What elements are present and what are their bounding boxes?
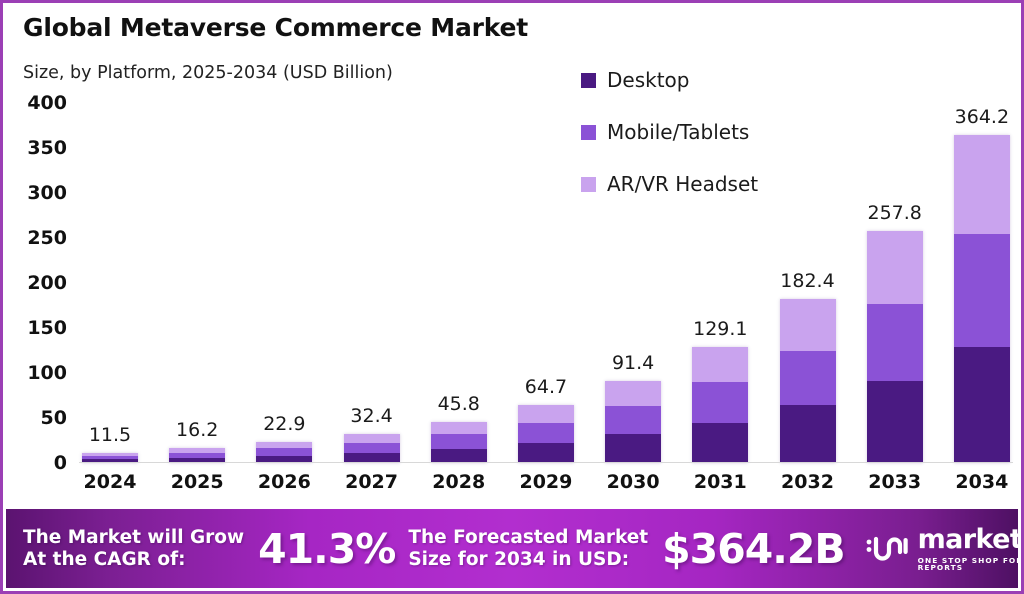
stacked-bar[interactable] <box>867 231 923 463</box>
bar-column[interactable]: 129.1 <box>689 98 751 463</box>
bar-segment-ar-vr-headset[interactable] <box>692 347 748 383</box>
bar-value-label: 91.4 <box>612 352 654 374</box>
chart-plot-area: 050100150200250300350400 11.516.222.932.… <box>3 98 1021 463</box>
bar-segment-mobile-tablets[interactable] <box>780 351 836 405</box>
bar-segment-ar-vr-headset[interactable] <box>431 422 487 434</box>
infographic-frame: Global Metaverse Commerce Market Size, b… <box>0 0 1024 594</box>
x-axis-tick: 2029 <box>515 471 577 497</box>
x-axis-tick: 2024 <box>79 471 141 497</box>
bar-segment-mobile-tablets[interactable] <box>605 406 661 435</box>
y-axis-tick: 0 <box>3 452 67 474</box>
bar-value-label: 129.1 <box>693 318 747 340</box>
y-axis-tick: 250 <box>3 227 67 249</box>
bar-column[interactable]: 11.5 <box>79 98 141 463</box>
bar-segment-desktop[interactable] <box>780 405 836 463</box>
bar-group: 11.516.222.932.445.864.791.4129.1182.425… <box>79 98 1013 463</box>
bar-column[interactable]: 91.4 <box>602 98 664 463</box>
bar-segment-ar-vr-headset[interactable] <box>954 135 1010 234</box>
legend-item-desktop[interactable]: Desktop <box>581 63 758 97</box>
bar-segment-ar-vr-headset[interactable] <box>344 434 400 443</box>
stacked-bar[interactable] <box>692 347 748 463</box>
bar-segment-mobile-tablets[interactable] <box>692 382 748 422</box>
bar-segment-ar-vr-headset[interactable] <box>867 231 923 304</box>
x-axis-tick: 2025 <box>166 471 228 497</box>
bar-column[interactable]: 32.4 <box>341 98 403 463</box>
stacked-bar[interactable] <box>256 442 312 463</box>
bar-segment-ar-vr-headset[interactable] <box>605 381 661 406</box>
stacked-bar[interactable] <box>605 381 661 463</box>
bar-value-label: 182.4 <box>780 270 834 292</box>
bar-segment-desktop[interactable] <box>431 449 487 463</box>
y-axis-tick: 300 <box>3 182 67 204</box>
bar-value-label: 64.7 <box>525 376 567 398</box>
x-axis: 2024202520262027202820292030203120322033… <box>79 471 1013 497</box>
bar-column[interactable]: 64.7 <box>515 98 577 463</box>
bar-segment-desktop[interactable] <box>518 443 574 463</box>
bar-segment-mobile-tablets[interactable] <box>431 434 487 448</box>
y-axis-tick: 400 <box>3 92 67 114</box>
bar-segment-desktop[interactable] <box>605 434 661 463</box>
bar-column[interactable]: 45.8 <box>428 98 490 463</box>
logo-tagline: ONE STOP SHOP FOR THE REPORTS <box>918 557 1018 572</box>
bar-segment-desktop[interactable] <box>692 423 748 463</box>
forecast-caption: The Forecasted Market Size for 2034 in U… <box>408 527 648 571</box>
bar-column[interactable]: 257.8 <box>864 98 926 463</box>
x-axis-tick: 2027 <box>341 471 403 497</box>
forecast-caption-line2: Size for 2034 in USD: <box>408 549 648 571</box>
y-axis-tick: 100 <box>3 362 67 384</box>
x-axis-tick: 2028 <box>428 471 490 497</box>
stacked-bar[interactable] <box>169 448 225 463</box>
bar-value-label: 22.9 <box>263 413 305 435</box>
page-title: Global Metaverse Commerce Market <box>23 13 528 42</box>
cagr-caption-line1: The Market will Grow <box>23 527 244 549</box>
y-axis-tick: 150 <box>3 317 67 339</box>
bar-segment-ar-vr-headset[interactable] <box>780 299 836 351</box>
bar-segment-mobile-tablets[interactable] <box>344 443 400 453</box>
bar-value-label: 11.5 <box>89 424 131 446</box>
bar-segment-mobile-tablets[interactable] <box>518 423 574 443</box>
stacked-bar[interactable] <box>518 405 574 463</box>
x-axis-tick: 2033 <box>864 471 926 497</box>
bar-segment-mobile-tablets[interactable] <box>954 234 1010 346</box>
bar-segment-desktop[interactable] <box>954 347 1010 463</box>
market-us-logo-icon <box>865 533 909 565</box>
axis-baseline <box>79 462 1013 463</box>
legend-swatch-icon <box>581 73 596 88</box>
stacked-bar[interactable] <box>431 422 487 463</box>
cagr-caption-line2: At the CAGR of: <box>23 549 244 571</box>
x-axis-tick: 2034 <box>951 471 1013 497</box>
stacked-bar[interactable] <box>954 135 1010 463</box>
stacked-bar[interactable] <box>780 299 836 463</box>
bar-segment-desktop[interactable] <box>867 381 923 463</box>
bar-column[interactable]: 364.2 <box>951 98 1013 463</box>
brand-logo[interactable]: market.us ONE STOP SHOP FOR THE REPORTS <box>865 526 1018 572</box>
bar-segment-mobile-tablets[interactable] <box>256 448 312 455</box>
bar-value-label: 16.2 <box>176 419 218 441</box>
bar-segment-mobile-tablets[interactable] <box>867 304 923 381</box>
bar-value-label: 364.2 <box>955 106 1009 128</box>
y-axis-tick: 350 <box>3 137 67 159</box>
cagr-value: 41.3% <box>258 525 395 573</box>
x-axis-tick: 2030 <box>602 471 664 497</box>
bar-column[interactable]: 22.9 <box>253 98 315 463</box>
y-axis-tick: 50 <box>3 407 67 429</box>
logo-name: market.us <box>918 526 1018 553</box>
bar-column[interactable]: 182.4 <box>777 98 839 463</box>
summary-banner: The Market will Grow At the CAGR of: 41.… <box>6 509 1018 588</box>
forecast-caption-line1: The Forecasted Market <box>408 527 648 549</box>
page-subtitle: Size, by Platform, 2025-2034 (USD Billio… <box>23 63 393 83</box>
legend-item-label: Desktop <box>607 68 689 92</box>
stacked-bar[interactable] <box>344 434 400 463</box>
cagr-caption: The Market will Grow At the CAGR of: <box>23 527 244 571</box>
bar-column[interactable]: 16.2 <box>166 98 228 463</box>
x-axis-tick: 2026 <box>253 471 315 497</box>
y-axis: 050100150200250300350400 <box>3 98 75 463</box>
y-axis-tick: 200 <box>3 272 67 294</box>
forecast-value: $364.2B <box>662 525 844 573</box>
bar-value-label: 45.8 <box>438 393 480 415</box>
bar-segment-ar-vr-headset[interactable] <box>518 405 574 423</box>
x-axis-tick: 2032 <box>777 471 839 497</box>
x-axis-tick: 2031 <box>689 471 751 497</box>
logo-wordmark: market.us ONE STOP SHOP FOR THE REPORTS <box>918 526 1018 572</box>
bar-value-label: 257.8 <box>867 202 921 224</box>
bar-value-label: 32.4 <box>350 405 392 427</box>
